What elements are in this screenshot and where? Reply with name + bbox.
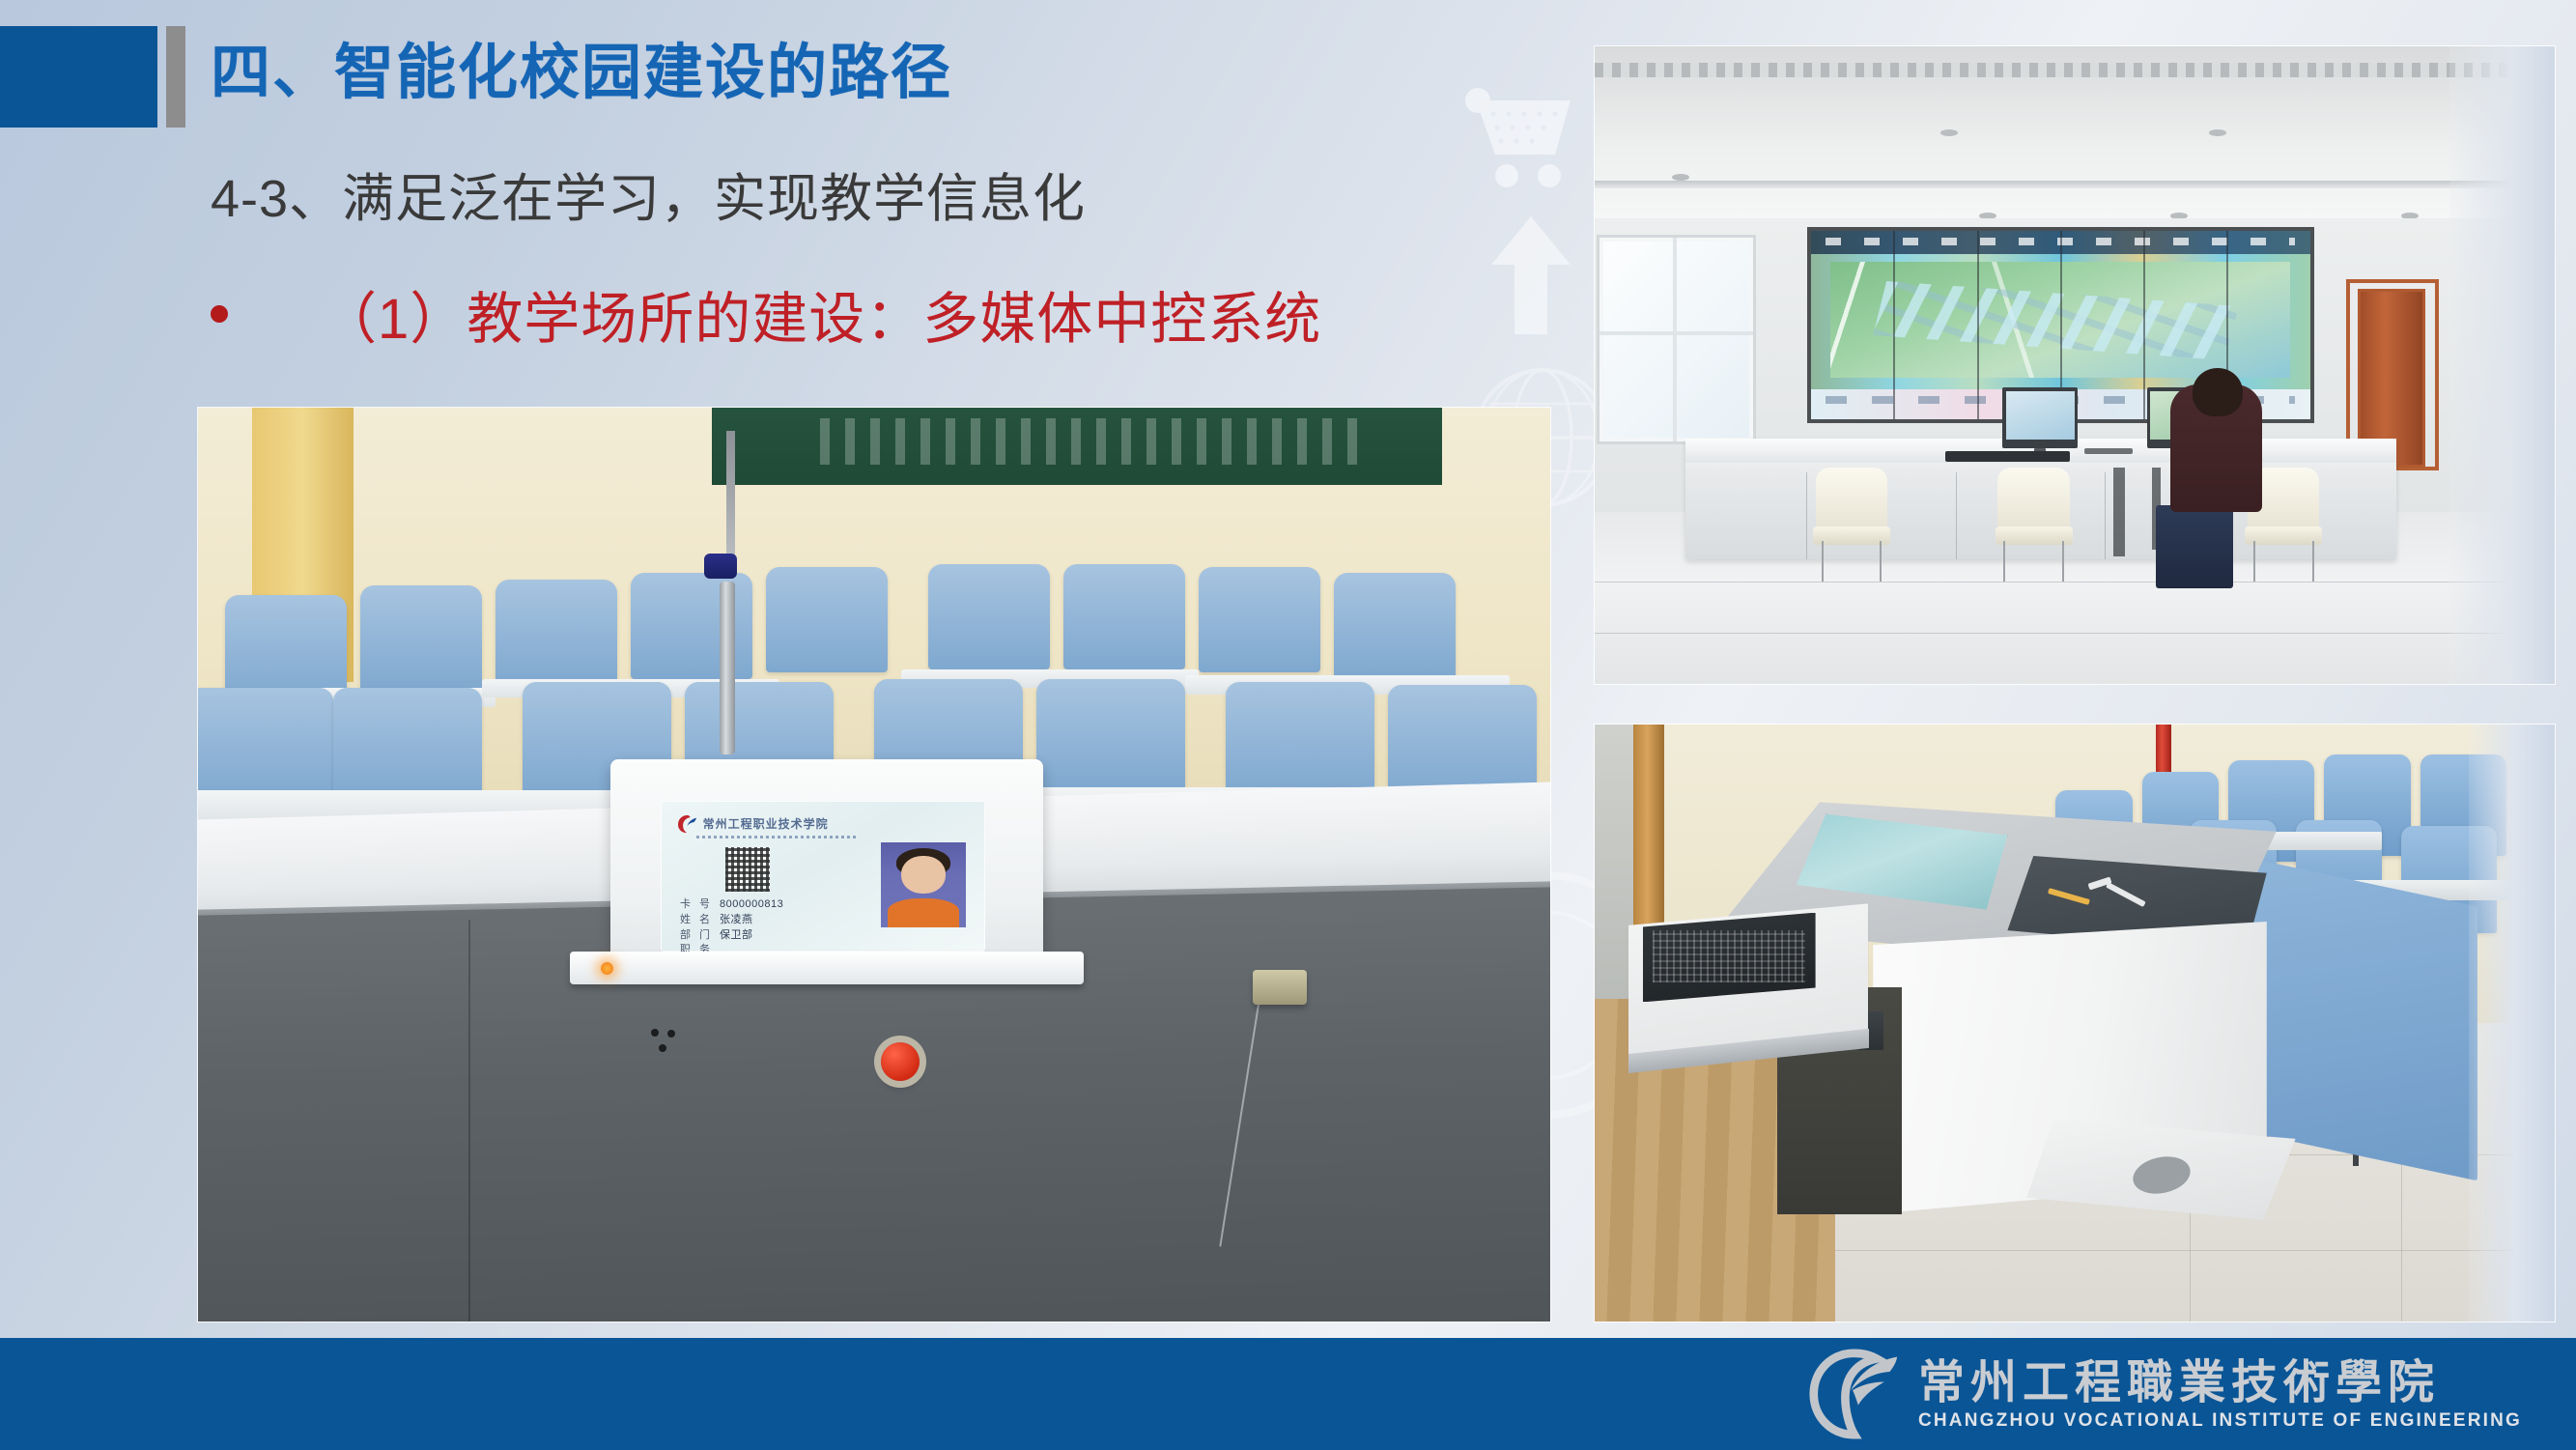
lectern-connector-cables <box>2046 880 2151 922</box>
id-card-fields: 卡 号8000000813 姓 名张凌燕 部 门保卫部 职 务 <box>680 897 868 952</box>
id-card-issuer-logo: 常州工程职业技术学院 <box>677 814 829 834</box>
ceiling-downlight <box>1672 174 1689 181</box>
id-card-field-row: 卡 号8000000813 <box>680 897 868 913</box>
footer-text-block: 常州工程職業技術學院 CHANGZHOU VOCATIONAL INSTITUT… <box>1918 1359 2522 1430</box>
title-accent-box <box>0 26 157 128</box>
lanyard-metal-clasp <box>720 582 735 755</box>
operator-legs <box>2156 505 2233 588</box>
photo-right-fade <box>2449 46 2555 684</box>
card-reader-slot <box>570 952 1084 984</box>
lanyard-strap <box>726 431 735 558</box>
bullet-text: （1）教学场所的建设：多媒体中控系统 <box>321 273 1321 355</box>
institution-name-en: CHANGZHOU VOCATIONAL INSTITUTE OF ENGINE… <box>1918 1411 2522 1430</box>
console-cable <box>2084 448 2133 455</box>
console-panel-seam <box>2105 472 2106 559</box>
id-card-field-row: 职 务 <box>680 943 868 951</box>
microphone-holes-icon <box>651 1029 676 1054</box>
lanyard-clip <box>704 554 737 579</box>
operator-chair[interactable] <box>1816 468 1888 583</box>
lecture-room-doorway <box>1595 725 1633 999</box>
classroom-seat <box>1334 573 1456 678</box>
operator-monitor <box>2002 387 2078 448</box>
portrait-face <box>901 856 945 893</box>
floor-tile-line <box>1595 633 2555 634</box>
id-card-issuer-name: 常州工程职业技术学院 <box>703 815 829 832</box>
bullet-row: （1）教学场所的建设：多媒体中控系统 <box>211 270 1611 357</box>
id-card-qr-code <box>725 847 770 892</box>
id-card-field-row: 部 门保卫部 <box>680 928 868 944</box>
video-wall-seam <box>1893 231 1895 419</box>
photo-classroom-card-reader: 常州工程职业技术学院 卡 号8000000813 姓 名张凌燕 部 门保卫部 职… <box>198 408 1550 1322</box>
operator-head <box>2193 368 2243 416</box>
classroom-seat <box>1036 679 1185 791</box>
control-room-window <box>1599 238 1753 441</box>
console-panel-seam <box>1806 472 1807 559</box>
classroom-seat <box>198 688 333 800</box>
console-cable <box>2113 468 2125 556</box>
ceiling-downlight <box>2209 129 2226 136</box>
video-wall-seam <box>2143 231 2145 419</box>
photo-right-fade <box>2469 725 2555 1322</box>
ceiling-downlight <box>1940 129 1958 136</box>
footer-logo-group: 常州工程職業技術學院 CHANGZHOU VOCATIONAL INSTITUT… <box>1808 1348 2522 1440</box>
footer-bar: 常州工程職業技術學院 CHANGZHOU VOCATIONAL INSTITUT… <box>0 1338 2576 1450</box>
classroom-seat <box>766 567 888 672</box>
title-accent-bar <box>166 26 185 128</box>
slide-subtitle: 4-3、满足泛在学习，实现教学信息化 <box>211 155 1563 232</box>
ceiling-beam <box>1595 63 2555 78</box>
desk-side-device <box>1253 970 1307 1005</box>
classroom-seat <box>1063 564 1185 669</box>
classroom-seat <box>333 688 482 800</box>
classroom-seat <box>1199 567 1320 672</box>
institution-name-cn: 常州工程職業技術學院 <box>1918 1359 2522 1406</box>
classroom-seat <box>495 580 617 685</box>
ceiling-rail <box>1595 181 2555 188</box>
classroom-seat <box>225 595 347 700</box>
floor-tile-line <box>1835 1250 2556 1251</box>
classroom-seat <box>1226 682 1374 794</box>
video-wall-seam <box>1977 231 1979 419</box>
classroom-seat <box>1388 685 1537 797</box>
blackboard-writing <box>820 418 1361 464</box>
page-title: 四、智能化校园建设的路径 <box>211 25 1563 122</box>
operator-chair[interactable] <box>1997 468 2070 583</box>
floor-tile-line <box>1595 582 2555 583</box>
desk-seam <box>468 920 470 1322</box>
console-keyboard <box>1945 451 2070 462</box>
lectern-keyboard[interactable] <box>1643 913 1816 1003</box>
institute-logo-mark-icon <box>677 814 698 834</box>
staff-id-card: 常州工程职业技术学院 卡 号8000000813 姓 名张凌燕 部 门保卫部 职… <box>661 801 985 952</box>
changzhou-institute-logo-icon <box>1808 1348 1901 1440</box>
id-card-field-row: 姓 名张凌燕 <box>680 913 868 928</box>
console-panel-seam <box>1956 472 1957 559</box>
classroom-seat <box>928 564 1050 669</box>
id-card-portrait <box>881 842 965 926</box>
photo-control-room <box>1595 46 2555 684</box>
campus-buildings <box>1873 281 2238 359</box>
classroom-seat <box>360 585 482 691</box>
photo-multimedia-lectern <box>1595 725 2555 1322</box>
portrait-shirt <box>888 898 958 927</box>
bullet-marker-icon <box>211 305 228 323</box>
id-card-issuer-subtitle <box>696 836 859 839</box>
